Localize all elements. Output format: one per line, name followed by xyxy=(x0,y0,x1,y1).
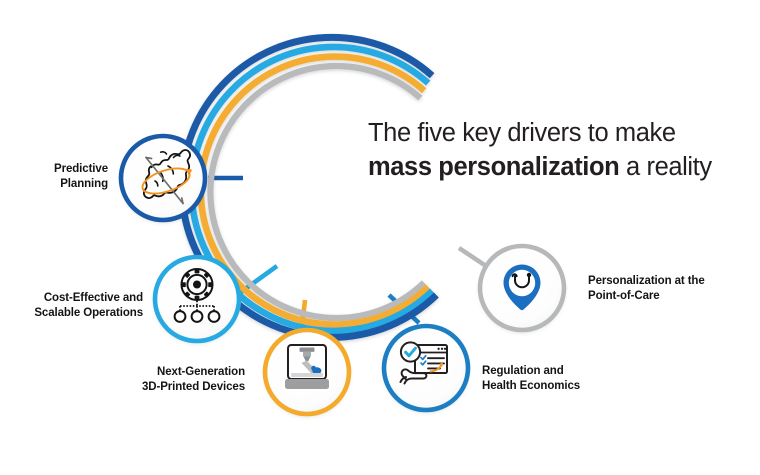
node-next-generation-3d-printed-devices[interactable] xyxy=(265,330,349,414)
page-title: The five key drivers to make mass person… xyxy=(368,116,728,184)
label-predictive-planning: Predictive Planning xyxy=(18,162,108,192)
headline-line-1: The five key drivers to make xyxy=(368,116,728,150)
label-next-generation-3d-printed-devices: Next-Generation 3D-Printed Devices xyxy=(110,365,245,395)
infographic-canvas: The five key drivers to make mass person… xyxy=(0,0,760,475)
label-personalization-point-of-care: Personalization at the Point-of-Care xyxy=(588,274,738,304)
label-regulation-health-economics: Regulation and Health Economics xyxy=(482,364,622,394)
node-personalization-point-of-care[interactable] xyxy=(480,246,564,330)
infographic-artwork xyxy=(0,0,760,475)
3d-printer-icon xyxy=(285,345,329,389)
node-cost-effective-scalable-operations[interactable] xyxy=(155,257,239,341)
node-predictive-planning[interactable] xyxy=(121,136,205,220)
headline-line-2: mass personalization a reality xyxy=(368,150,728,184)
headline-remainder: a reality xyxy=(619,153,711,181)
label-cost-effective-scalable-operations: Cost-Effective and Scalable Operations xyxy=(8,291,143,321)
node-regulation-health-economics[interactable] xyxy=(384,326,468,410)
arc-band-inner-gray xyxy=(210,66,424,318)
headline-emphasis: mass personalization xyxy=(368,153,619,181)
